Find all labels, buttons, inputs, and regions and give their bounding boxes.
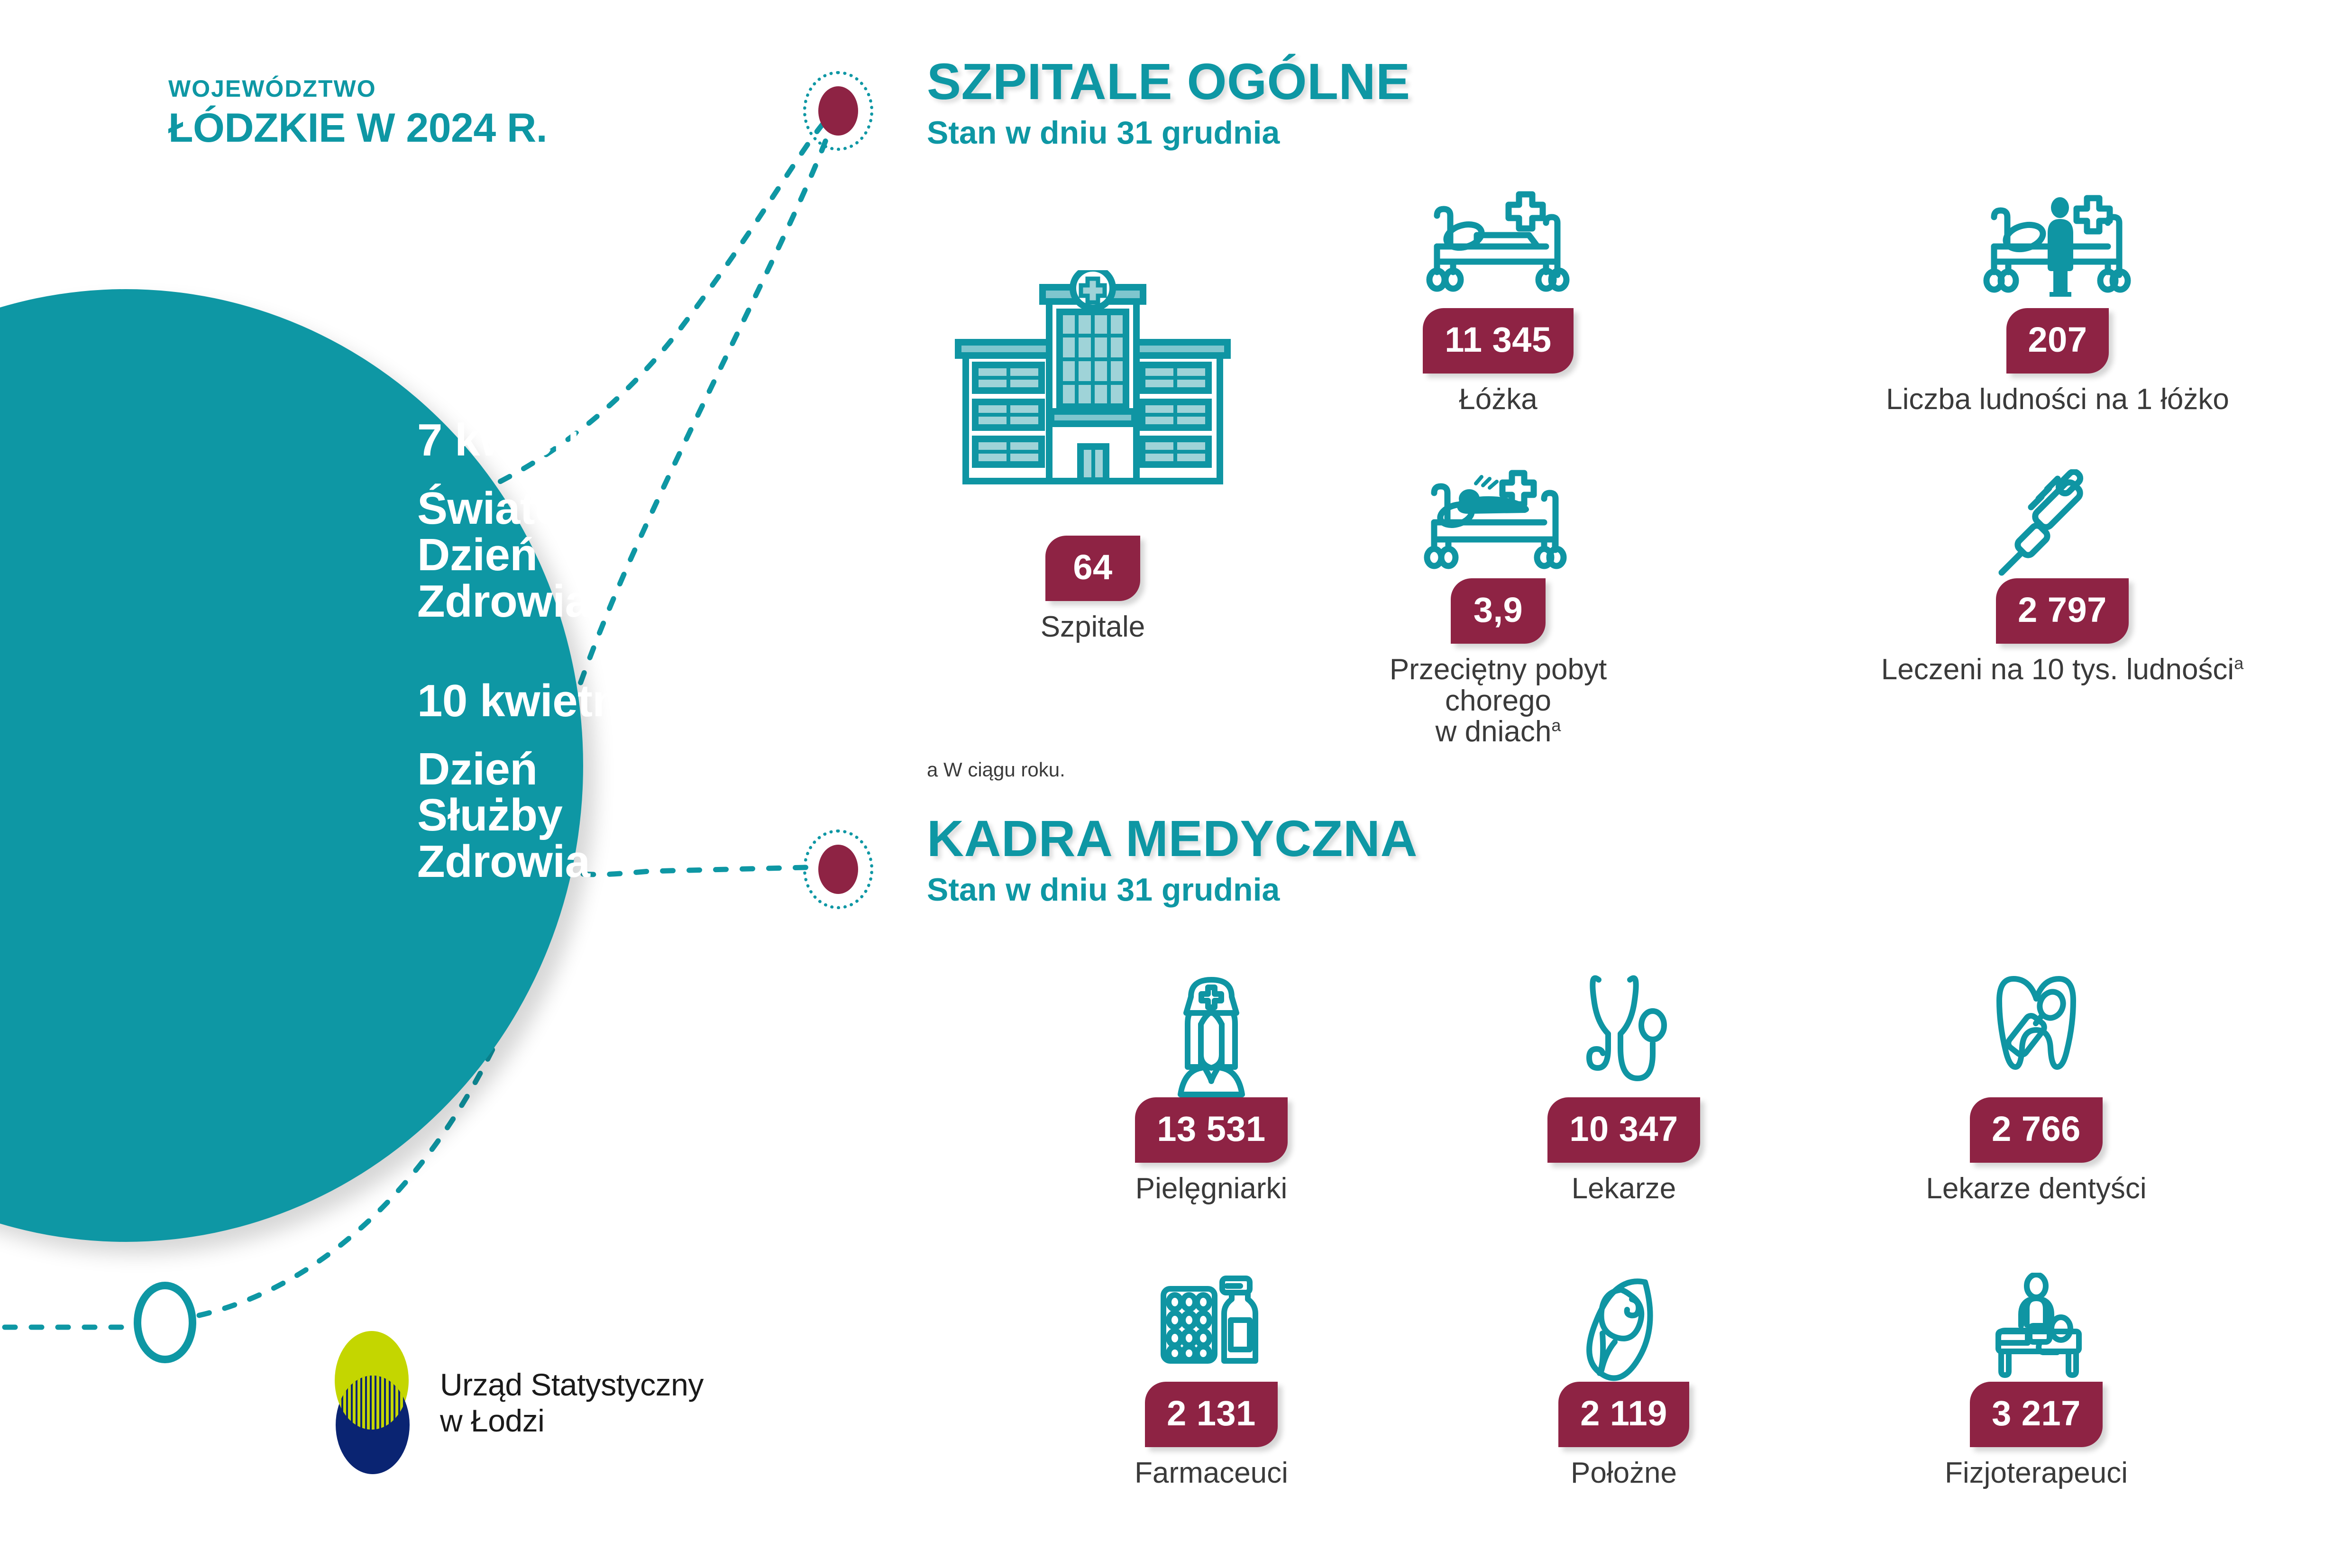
caption-text: Przeciętny pobyt chorego w dniach [1390,653,1607,748]
stat-tile-lekarze: 10 347 Lekarze [1467,969,1780,1204]
patient-in-bed-icon [1420,469,1576,578]
bed-with-person-icon [1977,190,2138,308]
highlight-name-2: Dzień Służby Zdrowia [417,746,825,885]
logo-line-2: w Łodzi [440,1403,704,1439]
stat-value-ludnosc-lozko: 207 [2006,308,2109,374]
stat-tile-fizjoterapeuci: 3 217 Fizjoterapeuci [1880,1273,2193,1489]
section-1-subtitle: Stan w dniu 31 grudnia [927,117,1410,149]
caption-text: Leczeni na 10 tys. ludności [1881,653,2234,686]
stat-value-dentysci: 2 766 [1970,1097,2103,1163]
page-title-block: WOJEWÓDZTWO ŁÓDZKIE W 2024 R. [168,76,547,149]
stat-tile-dentysci: 2 766 Lekarze dentyści [1880,969,2193,1204]
stat-caption-dentysci: Lekarze dentyści [1880,1173,2193,1204]
stat-tile-pobyt: 3,9 Przeciętny pobyt chorego w dniacha [1342,469,1655,748]
stat-caption-szpitale: Szpitale [927,611,1259,643]
section-header-szpitale: SZPITALE OGÓLNE Stan w dniu 31 grudnia [927,56,1410,149]
nurse-icon [1162,969,1261,1097]
stethoscope-icon [1574,969,1674,1097]
stat-value-pobyt: 3,9 [1451,578,1546,644]
stat-caption-fizjoterapeuci: Fizjoterapeuci [1880,1458,2193,1489]
organisation-logo: Urząd Statystyczny w Łodzi [327,1327,704,1479]
stat-value-lozka: 11 345 [1423,308,1573,374]
section-header-kadra: KADRA MEDYCZNA Stan w dniu 31 grudnia [927,813,1418,906]
stat-value-lekarze: 10 347 [1547,1097,1700,1163]
footnote: a W ciągu roku. [927,758,1065,781]
tooth-dentist-icon [1986,969,2086,1097]
section-1-title: SZPITALE OGÓLNE [927,56,1410,107]
pills-bottle-icon [1157,1273,1266,1382]
hospital-bed-icon [1420,190,1576,308]
page-title: ŁÓDZKIE W 2024 R. [168,107,547,149]
section-1-dot [818,86,858,136]
infographic-page: WOJEWÓDZTWO ŁÓDZKIE W 2024 R. 7 kwietnia… [0,0,2352,1568]
highlight-date-2: 10 kwietnia [417,678,825,724]
highlight-text-block: 7 kwietnia Światowy Dzień Zdrowia 10 kwi… [417,417,825,885]
stat-caption-polozne: Położne [1467,1458,1780,1489]
stat-caption-leczeni: Leczeni na 10 tys. ludnościa [1835,654,2290,685]
stat-tile-ludnosc-lozko: 207 Liczba ludności na 1 łóżko [1816,190,2299,415]
stat-value-fizjoterapeuci: 3 217 [1970,1382,2103,1447]
stat-caption-lekarze: Lekarze [1467,1173,1780,1204]
logo-text: Urząd Statystyczny w Łodzi [440,1367,704,1439]
stat-value-pielegniarki: 13 531 [1135,1097,1287,1163]
stat-caption-pobyt: Przeciętny pobyt chorego w dniacha [1342,654,1655,748]
stat-tile-leczeni: 2 797 Leczeni na 10 tys. ludnościa [1835,469,2290,685]
section-2-title: KADRA MEDYCZNA [927,813,1418,864]
section-2-subtitle: Stan w dniu 31 grudnia [927,874,1418,906]
footnote-marker: a [2234,653,2243,673]
stat-tile-farmaceuci: 2 131 Farmaceuci [1055,1273,1368,1489]
logo-mark-icon [327,1327,417,1479]
massage-table-icon [1979,1273,2093,1382]
page-title-kicker: WOJEWÓDZTWO [168,76,547,102]
stat-value-farmaceuci: 2 131 [1145,1382,1278,1447]
stat-caption-pielegniarki: Pielęgniarki [1055,1173,1368,1204]
logo-line-1: Urząd Statystyczny [440,1367,704,1403]
stat-value-leczeni: 2 797 [1996,578,2129,644]
swaddled-baby-icon [1574,1273,1674,1382]
syringe-icon [1991,469,2133,578]
stat-caption-ludnosc-lozko: Liczba ludności na 1 łóżko [1816,384,2299,415]
stat-value-szpitale: 64 [1045,536,1140,601]
stat-caption-lozka: Łóżka [1361,384,1636,415]
stat-value-polozne: 2 119 [1558,1382,1689,1447]
footnote-marker: a [1551,716,1561,735]
stat-caption-farmaceuci: Farmaceuci [1055,1458,1368,1489]
stat-tile-polozne: 2 119 Położne [1467,1273,1780,1489]
stat-tile-szpitale: 64 Szpitale [927,270,1259,643]
stat-tile-lozka: 11 345 Łóżka [1361,190,1636,415]
stat-tile-pielegniarki: 13 531 Pielęgniarki [1055,969,1368,1204]
highlight-date-1: 7 kwietnia [417,417,825,464]
highlight-name-1: Światowy Dzień Zdrowia [417,485,825,625]
section-2-dot [818,845,858,894]
hospital-building-icon [946,270,1240,536]
